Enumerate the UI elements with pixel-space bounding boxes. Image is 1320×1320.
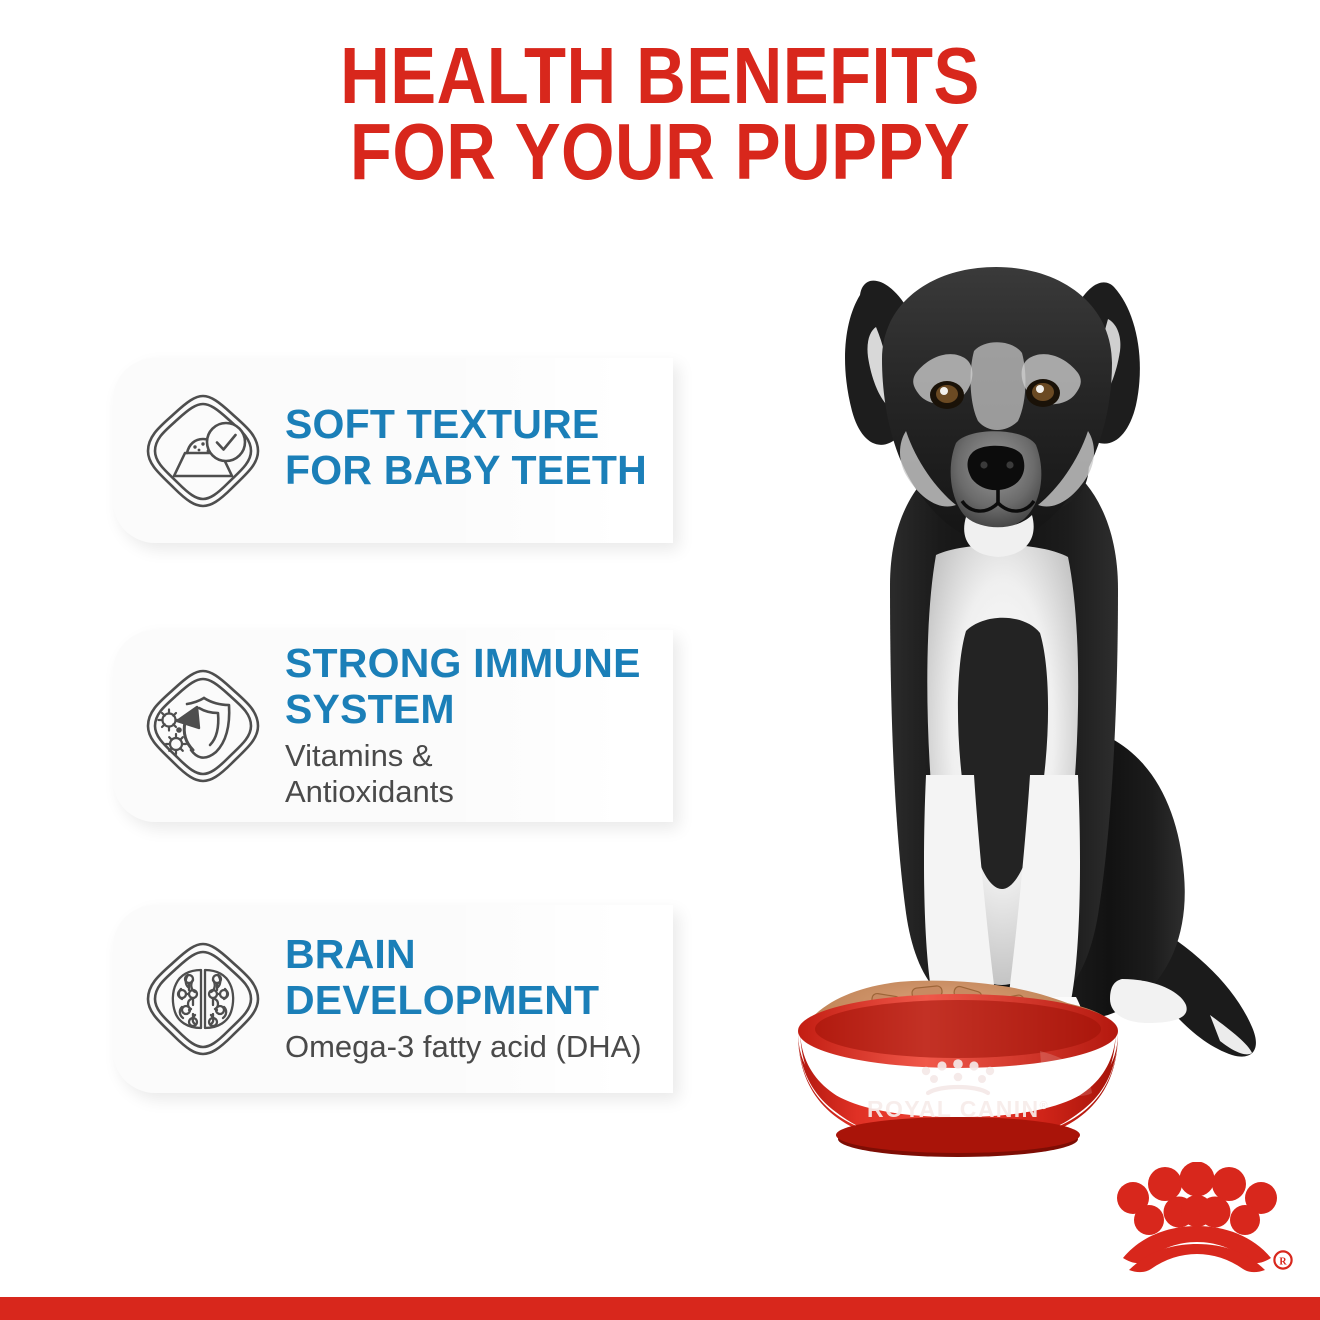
- benefit-text-brain-development: BRAIN DEVELOPMENT Omega-3 fatty acid (DH…: [285, 932, 673, 1065]
- benefit-title: STRONG IMMUNE SYSTEM: [285, 641, 673, 733]
- infographic-canvas: HEALTH BENEFITS FOR YOUR PUPPY SOFT TEXT…: [0, 0, 1320, 1320]
- shield-germs-icon: [135, 664, 271, 788]
- title-line-2: FOR YOUR PUPPY: [92, 114, 1227, 190]
- benefit-text-soft-texture: SOFT TEXTURE FOR BABY TEETH: [285, 402, 673, 499]
- benefit-title: SOFT TEXTURE FOR BABY TEETH: [285, 402, 673, 494]
- benefit-card-brain-development: BRAIN DEVELOPMENT Omega-3 fatty acid (DH…: [113, 905, 673, 1093]
- benefit-text-immune-system: STRONG IMMUNE SYSTEM Vitamins & Antioxid…: [285, 641, 673, 811]
- title-line-1: HEALTH BENEFITS: [92, 38, 1227, 114]
- page-title: HEALTH BENEFITS FOR YOUR PUPPY: [0, 38, 1320, 190]
- benefit-card-immune-system: STRONG IMMUNE SYSTEM Vitamins & Antioxid…: [113, 630, 673, 822]
- benefit-title: BRAIN DEVELOPMENT: [285, 932, 673, 1024]
- brain-icon: [135, 937, 271, 1061]
- benefit-subtitle: Omega-3 fatty acid (DHA): [285, 1029, 673, 1066]
- royal-canin-crown-logo: R: [1093, 1162, 1293, 1274]
- svg-text:R: R: [1279, 1257, 1287, 1268]
- bowl-with-check-icon: [135, 389, 271, 513]
- puppy-photo: ROYAL CANIN®: [740, 255, 1320, 1170]
- benefit-card-soft-texture: SOFT TEXTURE FOR BABY TEETH: [113, 358, 673, 543]
- registered-mark: R: [1274, 1251, 1291, 1268]
- bottom-red-bar: [0, 1297, 1320, 1320]
- bowl-brand: ROYAL CANIN®: [867, 1059, 1049, 1122]
- bowl-logo-text: ROYAL CANIN®: [867, 1096, 1049, 1122]
- benefit-subtitle: Vitamins & Antioxidants: [285, 738, 673, 811]
